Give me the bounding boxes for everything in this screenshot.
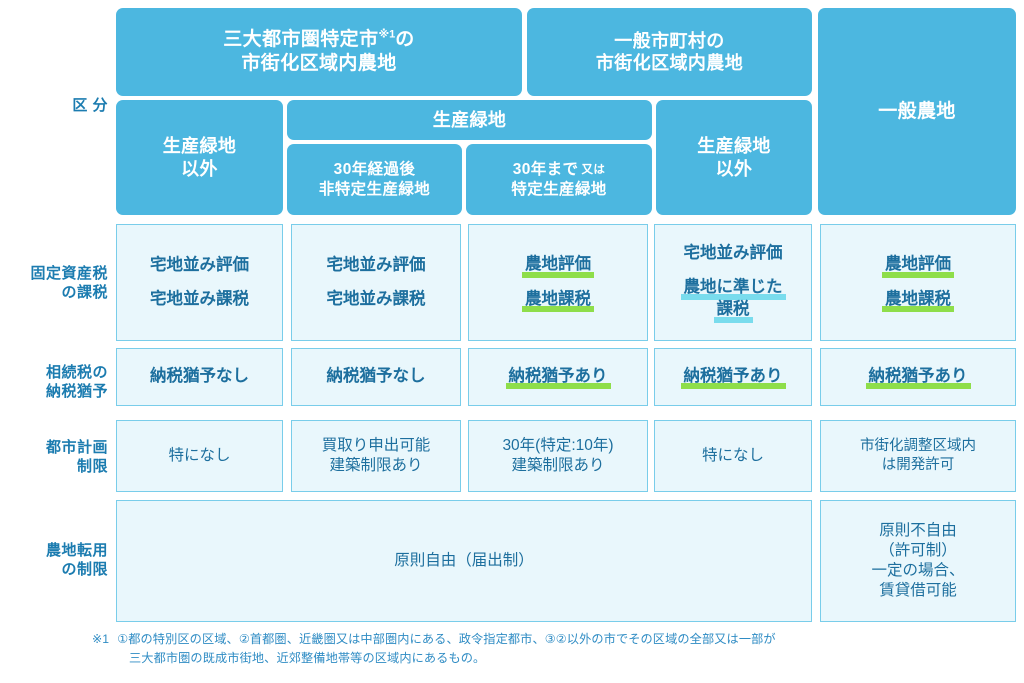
- group-header-general-city: 一般市町村の 市街化区域内農地: [527, 8, 812, 96]
- row-label-property-tax: 固定資産税 の課税: [0, 264, 108, 302]
- cell-inheritance-tax-col1: 納税猶予なし: [116, 348, 283, 406]
- sub-header-col1-line2: 以外: [163, 158, 237, 180]
- row-label-city-planning: 都市計画 制限: [0, 438, 108, 476]
- row-label-city-planning-line1: 都市計画: [0, 438, 108, 457]
- cell-inheritance-tax-col4: 納税猶予あり: [654, 348, 812, 406]
- group-header-general-city-line1: 一般市町村の: [596, 30, 743, 52]
- row-label-property-tax-line1: 固定資産税: [0, 264, 108, 283]
- cell-inheritance-tax-col5: 納税猶予あり: [820, 348, 1016, 406]
- sub-header-productive-green-group-label: 生産緑地: [433, 109, 507, 131]
- cell-inheritance-tax-col5-label: 納税猶予あり: [868, 366, 969, 388]
- cell-city-planning-col4-line1: 特になし: [702, 446, 764, 466]
- row-label-farmland-conversion: 農地転用 の制限: [0, 541, 108, 579]
- cell-farmland-conversion-col5-line1: 原則不自由: [879, 521, 957, 541]
- sub-header-col4-non-productive-green: 生産緑地 以外: [656, 100, 812, 215]
- cell-farmland-conversion-col5: 原則不自由 （許可制） 一定の場合、 賃貸借可能: [820, 500, 1016, 622]
- sub-header-col3-until-30-years: 30年まで又は 特定生産緑地: [466, 144, 652, 215]
- row-label-category: 区 分: [0, 96, 108, 115]
- cell-property-tax-col3-line1: 農地評価: [524, 254, 592, 276]
- cell-property-tax-col3: 農地評価 農地課税: [468, 224, 648, 341]
- group-header-three-metro-line2: 市街化区域内農地: [223, 52, 414, 76]
- row-label-property-tax-line2: の課税: [0, 283, 108, 302]
- cell-farmland-conversion-merged: 原則自由（届出制）: [116, 500, 812, 622]
- cell-farmland-conversion-merged-line1: 原則自由（届出制）: [394, 551, 534, 571]
- cell-city-planning-col1: 特になし: [116, 420, 283, 492]
- group-header-three-metro-line1: 三大都市圏特定市: [223, 29, 378, 50]
- cell-property-tax-col5-line2: 農地課税: [884, 289, 952, 311]
- group-header-general-farmland: 一般農地: [818, 8, 1016, 215]
- comparison-table: 区 分 固定資産税 の課税 相続税の 納税猶予 都市計画 制限 農地転用 の制限…: [0, 0, 1024, 683]
- sub-header-col3-line1: 30年まで: [513, 161, 579, 178]
- sub-header-productive-green-group: 生産緑地: [287, 100, 652, 140]
- sub-header-col2-line1: 30年経過後: [319, 160, 430, 179]
- group-header-general-city-line2: 市街化区域内農地: [596, 52, 743, 74]
- footnote-line2: 三大都市圏の既成市街地、近郊整備地帯等の区域内にあるもの。: [92, 649, 776, 668]
- group-header-general-farmland-label: 一般農地: [878, 100, 956, 124]
- cell-city-planning-col2-line1: 買取り申出可能: [322, 436, 431, 456]
- row-label-city-planning-line2: 制限: [0, 457, 108, 476]
- cell-property-tax-col4: 宅地並み評価 農地に準じた 課税: [654, 224, 812, 341]
- cell-property-tax-col3-line2: 農地課税: [524, 289, 592, 311]
- cell-city-planning-col3-line2: 建築制限あり: [511, 456, 604, 476]
- cell-property-tax-col4-line1: 宅地並み評価: [684, 243, 783, 264]
- cell-property-tax-col5: 農地評価 農地課税: [820, 224, 1016, 341]
- footnote: ※1①都の特別区の区域、②首都圏、近畿圏又は中部圏内にある、政令指定都市、③②以…: [92, 630, 776, 668]
- sub-header-col1-non-productive-green: 生産緑地 以外: [116, 100, 283, 215]
- row-label-inheritance-tax-line1: 相続税の: [0, 363, 108, 382]
- row-label-farmland-conversion-line1: 農地転用: [0, 541, 108, 560]
- row-label-inheritance-tax-line2: 納税猶予: [0, 382, 108, 401]
- footnote-mark: ※1: [92, 632, 117, 646]
- footnote-ref-1: ※1: [378, 29, 395, 41]
- cell-city-planning-col2: 買取り申出可能 建築制限あり: [291, 420, 461, 492]
- footnote-line1: ①都の特別区の区域、②首都圏、近畿圏又は中部圏内にある、政令指定都市、③②以外の…: [117, 632, 775, 646]
- cell-property-tax-col2-line2: 宅地並み課税: [327, 289, 426, 310]
- cell-city-planning-col2-line2: 建築制限あり: [329, 456, 422, 476]
- sub-header-col1-line1: 生産緑地: [163, 135, 237, 157]
- cell-property-tax-col2: 宅地並み評価 宅地並み課税: [291, 224, 461, 341]
- row-label-category-line1: 区 分: [0, 96, 108, 115]
- row-label-inheritance-tax: 相続税の 納税猶予: [0, 363, 108, 401]
- cell-inheritance-tax-col3-label: 納税猶予あり: [508, 366, 609, 388]
- cell-property-tax-col1-line2: 宅地並み課税: [150, 289, 249, 310]
- group-header-three-metro-line1-post: の: [395, 29, 414, 50]
- sub-header-col3-alt-tag: 又は: [578, 164, 605, 176]
- cell-inheritance-tax-col1-label: 納税猶予なし: [150, 366, 249, 387]
- cell-city-planning-col3: 30年(特定:10年) 建築制限あり: [468, 420, 648, 492]
- sub-header-col2-after-30-years: 30年経過後 非特定生産緑地: [287, 144, 462, 215]
- cell-city-planning-col5: 市街化調整区域内 は開発許可: [820, 420, 1016, 492]
- cell-inheritance-tax-col3: 納税猶予あり: [468, 348, 648, 406]
- row-label-farmland-conversion-line2: の制限: [0, 560, 108, 579]
- cell-farmland-conversion-col5-line4: 賃貸借可能: [879, 581, 957, 601]
- cell-city-planning-col5-line2: は開発許可: [882, 456, 955, 475]
- cell-city-planning-col5-line1: 市街化調整区域内: [860, 437, 976, 456]
- cell-city-planning-col3-line1: 30年(特定:10年): [502, 436, 613, 456]
- group-header-three-metro: 三大都市圏特定市※1の 市街化区域内農地: [116, 8, 522, 96]
- cell-city-planning-col1-line1: 特になし: [168, 446, 230, 466]
- cell-property-tax-col2-line1: 宅地並み評価: [327, 255, 426, 276]
- cell-farmland-conversion-col5-line2: （許可制）: [879, 541, 957, 561]
- sub-header-col2-line2: 非特定生産緑地: [319, 180, 430, 199]
- cell-inheritance-tax-col2: 納税猶予なし: [291, 348, 461, 406]
- cell-property-tax-col4-line2: 農地に準じた: [683, 277, 784, 299]
- cell-inheritance-tax-col2-label: 納税猶予なし: [327, 366, 426, 387]
- sub-header-col4-line2: 以外: [697, 158, 771, 180]
- cell-city-planning-col4: 特になし: [654, 420, 812, 492]
- cell-property-tax-col1: 宅地並み評価 宅地並み課税: [116, 224, 283, 341]
- sub-header-col3-line2: 特定生産緑地: [511, 180, 606, 199]
- cell-farmland-conversion-col5-line3: 一定の場合、: [871, 561, 964, 581]
- cell-inheritance-tax-col4-label: 納税猶予あり: [683, 366, 784, 388]
- cell-property-tax-col4-line3: 課税: [716, 299, 751, 321]
- cell-property-tax-col1-line1: 宅地並み評価: [150, 255, 249, 276]
- cell-property-tax-col5-line1: 農地評価: [884, 254, 952, 276]
- sub-header-col4-line1: 生産緑地: [697, 135, 771, 157]
